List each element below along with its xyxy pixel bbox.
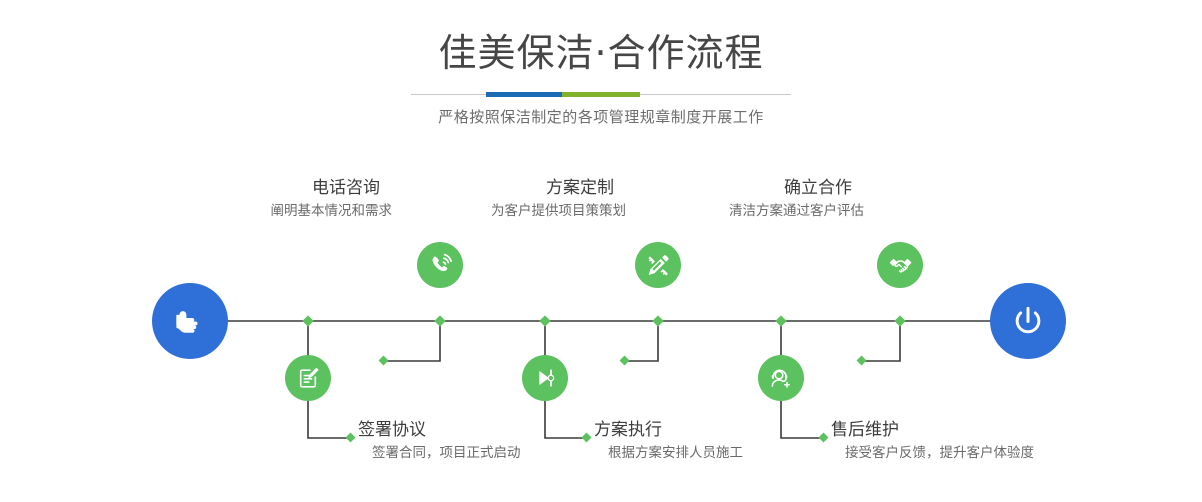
phone-call-icon xyxy=(427,252,454,279)
title-divider xyxy=(411,92,791,97)
flow-label-step-1: 电话咨询 阐明基本情况和需求 xyxy=(150,176,392,222)
divider-segment-blue xyxy=(486,92,562,97)
handshake-icon xyxy=(887,252,914,279)
flow-label-step-4-title: 方案执行 xyxy=(594,418,743,442)
flow-label-step-3: 方案定制 为客户提供项目策策划 xyxy=(400,176,626,222)
flow-label-step-5-desc: 清洁方案通过客户评估 xyxy=(640,200,864,222)
flow-node-step-3[interactable] xyxy=(635,242,681,288)
flow-label-step-3-title: 方案定制 xyxy=(400,176,626,200)
flow-label-step-1-desc: 阐明基本情况和需求 xyxy=(150,200,392,222)
flow-diagram: 电话咨询 阐明基本情况和需求 方案定制 为客户提供项目策策划 xyxy=(0,160,1202,490)
power-icon xyxy=(1007,300,1049,342)
headset-support-icon xyxy=(768,365,794,391)
flow-node-step-2[interactable] xyxy=(285,355,331,401)
flow-label-step-2-desc: 签署合同，项目正式启动 xyxy=(358,442,521,464)
page-title: 佳美保洁·合作流程 xyxy=(0,28,1202,78)
pencil-ruler-icon xyxy=(645,252,672,279)
flow-node-step-1[interactable] xyxy=(417,242,463,288)
flow-label-step-1-title: 电话咨询 xyxy=(150,176,392,200)
flow-label-step-5-title: 确立合作 xyxy=(640,176,864,200)
page-subtitle: 严格按照保洁制定的各项管理规章制度开展工作 xyxy=(0,106,1202,128)
flow-label-step-6-desc: 接受客户反馈，提升客户体验度 xyxy=(831,442,1034,464)
flow-label-step-4-desc: 根据方案安排人员施工 xyxy=(594,442,743,464)
flow-node-step-6[interactable] xyxy=(758,355,804,401)
flow-end-node[interactable] xyxy=(990,283,1066,359)
flow-label-step-2-title: 签署协议 xyxy=(358,418,521,442)
flow-label-step-2: 签署协议 签署合同，项目正式启动 xyxy=(358,418,521,464)
pointing-hand-icon xyxy=(169,300,211,342)
flow-label-step-6: 售后维护 接受客户反馈，提升客户体验度 xyxy=(831,418,1034,464)
divider-segment-green xyxy=(562,92,640,97)
flow-node-step-4[interactable] xyxy=(522,355,568,401)
page-header: 佳美保洁·合作流程 严格按照保洁制定的各项管理规章制度开展工作 xyxy=(0,28,1202,128)
play-execute-icon xyxy=(532,365,558,391)
contract-sign-icon xyxy=(295,365,321,391)
flow-node-step-5[interactable] xyxy=(877,242,923,288)
flow-label-step-4: 方案执行 根据方案安排人员施工 xyxy=(594,418,743,464)
flow-label-step-3-desc: 为客户提供项目策策划 xyxy=(400,200,626,222)
flow-start-node[interactable] xyxy=(152,283,228,359)
flow-label-step-6-title: 售后维护 xyxy=(831,418,1034,442)
cooperation-flow-page: 佳美保洁·合作流程 严格按照保洁制定的各项管理规章制度开展工作 xyxy=(0,0,1202,502)
flow-label-step-5: 确立合作 清洁方案通过客户评估 xyxy=(640,176,864,222)
